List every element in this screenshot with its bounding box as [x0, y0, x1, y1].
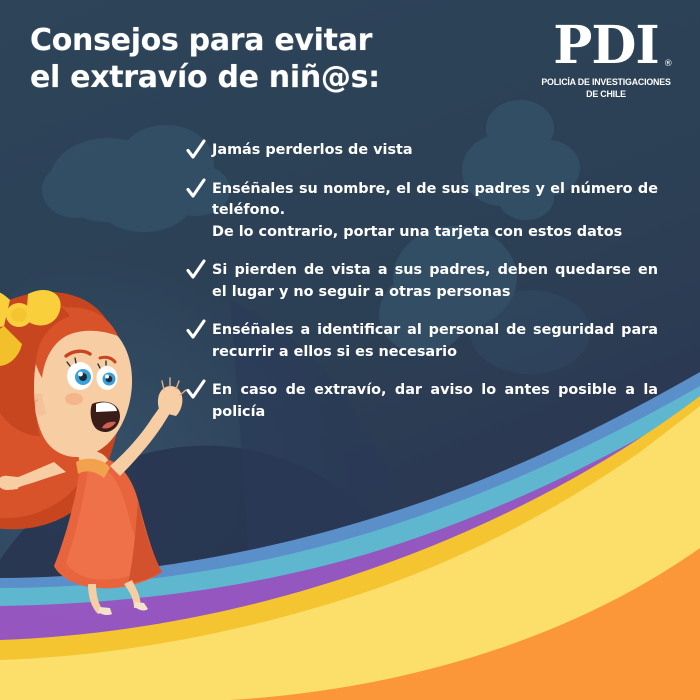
tip-text: Enséñales su nombre, el de sus padres y … [212, 179, 658, 244]
check-mark-icon [186, 379, 206, 401]
check-mark-icon [186, 259, 206, 281]
eye-right [97, 366, 118, 390]
hand-left [0, 476, 18, 490]
tip-text: En caso de extravío, dar aviso lo antes … [212, 380, 658, 423]
list-item: Enséñales a identificar al personal de s… [186, 320, 658, 363]
pdi-logo-subtitle-line1: POLICÍA DE INVESTIGACIONES [537, 77, 675, 89]
shoe-right [134, 602, 148, 610]
pdi-logo-text: PDI [553, 15, 659, 76]
poster-header: Consejos para evitar el extravío de niñ@… [0, 0, 700, 118]
shoe-left [98, 607, 112, 615]
check-mark-icon [186, 178, 206, 200]
check-mark-icon [186, 139, 206, 161]
pdi-logo: PDI ® POLICÍA DE INVESTIGACIONES DE CHIL… [532, 20, 680, 101]
tip-text: Si pierden de vista a sus padres, deben … [212, 260, 658, 303]
girl-figure [0, 290, 186, 615]
list-item: Si pierden de vista a sus padres, deben … [186, 260, 658, 303]
hand-right [158, 378, 186, 416]
eye-left [67, 362, 93, 390]
poster-canvas: Consejos para evitar el extravío de niñ@… [0, 0, 700, 700]
pdi-logo-mark: PDI ® [553, 20, 659, 72]
tip-text: Jamás perderlos de vista [212, 140, 658, 162]
pdi-logo-subtitle-line2: DE CHILE [537, 89, 675, 101]
check-mark-icon [186, 319, 206, 341]
list-item: Jamás perderlos de vista [186, 140, 658, 162]
list-item: Enséñales su nombre, el de sus padres y … [186, 179, 658, 244]
cheek [65, 393, 83, 405]
list-item: En caso de extravío, dar aviso lo antes … [186, 380, 658, 423]
tip-text: Enséñales a identificar al personal de s… [212, 320, 658, 363]
registered-trademark-icon: ® [664, 60, 672, 69]
page-title: Consejos para evitar el extravío de niñ@… [30, 22, 380, 96]
tips-list: Jamás perderlos de vista Enséñales su no… [186, 140, 658, 440]
